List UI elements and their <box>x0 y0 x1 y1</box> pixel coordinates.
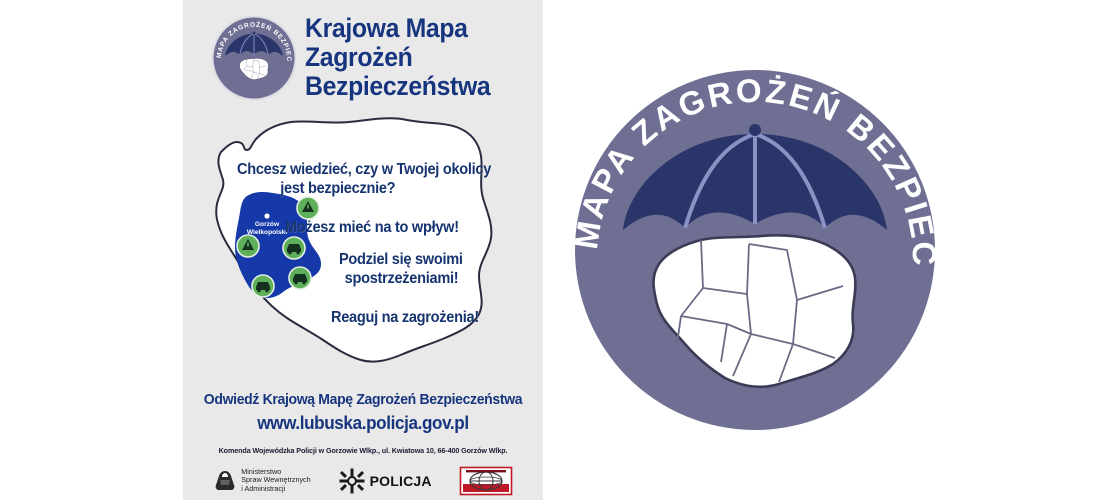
map-marker-warning-1[interactable] <box>297 197 319 219</box>
police-star-icon <box>339 468 365 494</box>
title-line-1: Krajowa Mapa <box>305 14 518 43</box>
poster-header: KRAJOWA MAPA ZAGROŻEŃ BEZPIECZEŃSTWA Kra… <box>183 6 543 106</box>
polish-eagle-icon <box>214 468 236 494</box>
map-marker-vehicle-3[interactable] <box>252 275 274 297</box>
ministry-label: Ministerstwo Spraw Wewnętrznych i Admini… <box>241 468 310 494</box>
ministry-logo: Ministerstwo Spraw Wewnętrznych i Admini… <box>214 468 310 494</box>
address-line: Komenda Wojewódzka Policji w Gorzowie Wl… <box>188 446 537 455</box>
police-logo: POLICJA <box>339 468 432 494</box>
kmzb-badge-logo: KRAJOWA MAPA ZAGROŻEŃ BEZPIECZEŃSTWA <box>208 12 300 104</box>
poster-panel: KRAJOWA MAPA ZAGROŻEŃ BEZPIECZEŃSTWA Kra… <box>183 0 543 500</box>
map-marker-vehicle-1[interactable] <box>283 237 305 259</box>
city-label-line-1: Gorzów <box>255 221 280 228</box>
kmzb-large-logo: KRAJOWA MAPA ZAGROŻEŃ BEZPIECZEŃSTWA <box>553 48 957 452</box>
screenshot-root: KRAJOWA MAPA ZAGROŻEŃ BEZPIECZEŃSTWA Kra… <box>0 0 1101 500</box>
city-dot <box>264 213 269 218</box>
title-line-2: Zagrożeń <box>305 43 518 72</box>
cta-text: Odwiedź Krajową Mapę Zagrożeń Bezpieczeń… <box>190 392 536 408</box>
poster-footer: Ministerstwo Spraw Wewnętrznych i Admini… <box>183 461 543 500</box>
globe-emblem-logo <box>460 467 512 495</box>
website-url[interactable]: www.lubuska.policja.gov.pl <box>192 413 534 434</box>
poland-map-illustration: Gorzów Wielkopolski <box>191 100 539 400</box>
red-framed-globe-icon <box>460 467 512 495</box>
map-marker-warning-2[interactable] <box>237 235 259 257</box>
city-label-line-2: Wielkopolski <box>247 229 287 236</box>
ministry-line-3: i Administracji <box>241 485 310 494</box>
title-line-3: Bezpieczeństwa <box>305 72 518 101</box>
map-marker-vehicle-2[interactable] <box>289 267 311 289</box>
police-label: POLICJA <box>370 473 432 489</box>
page-title: Krajowa Mapa Zagrożeń Bezpieczeństwa <box>305 14 518 101</box>
